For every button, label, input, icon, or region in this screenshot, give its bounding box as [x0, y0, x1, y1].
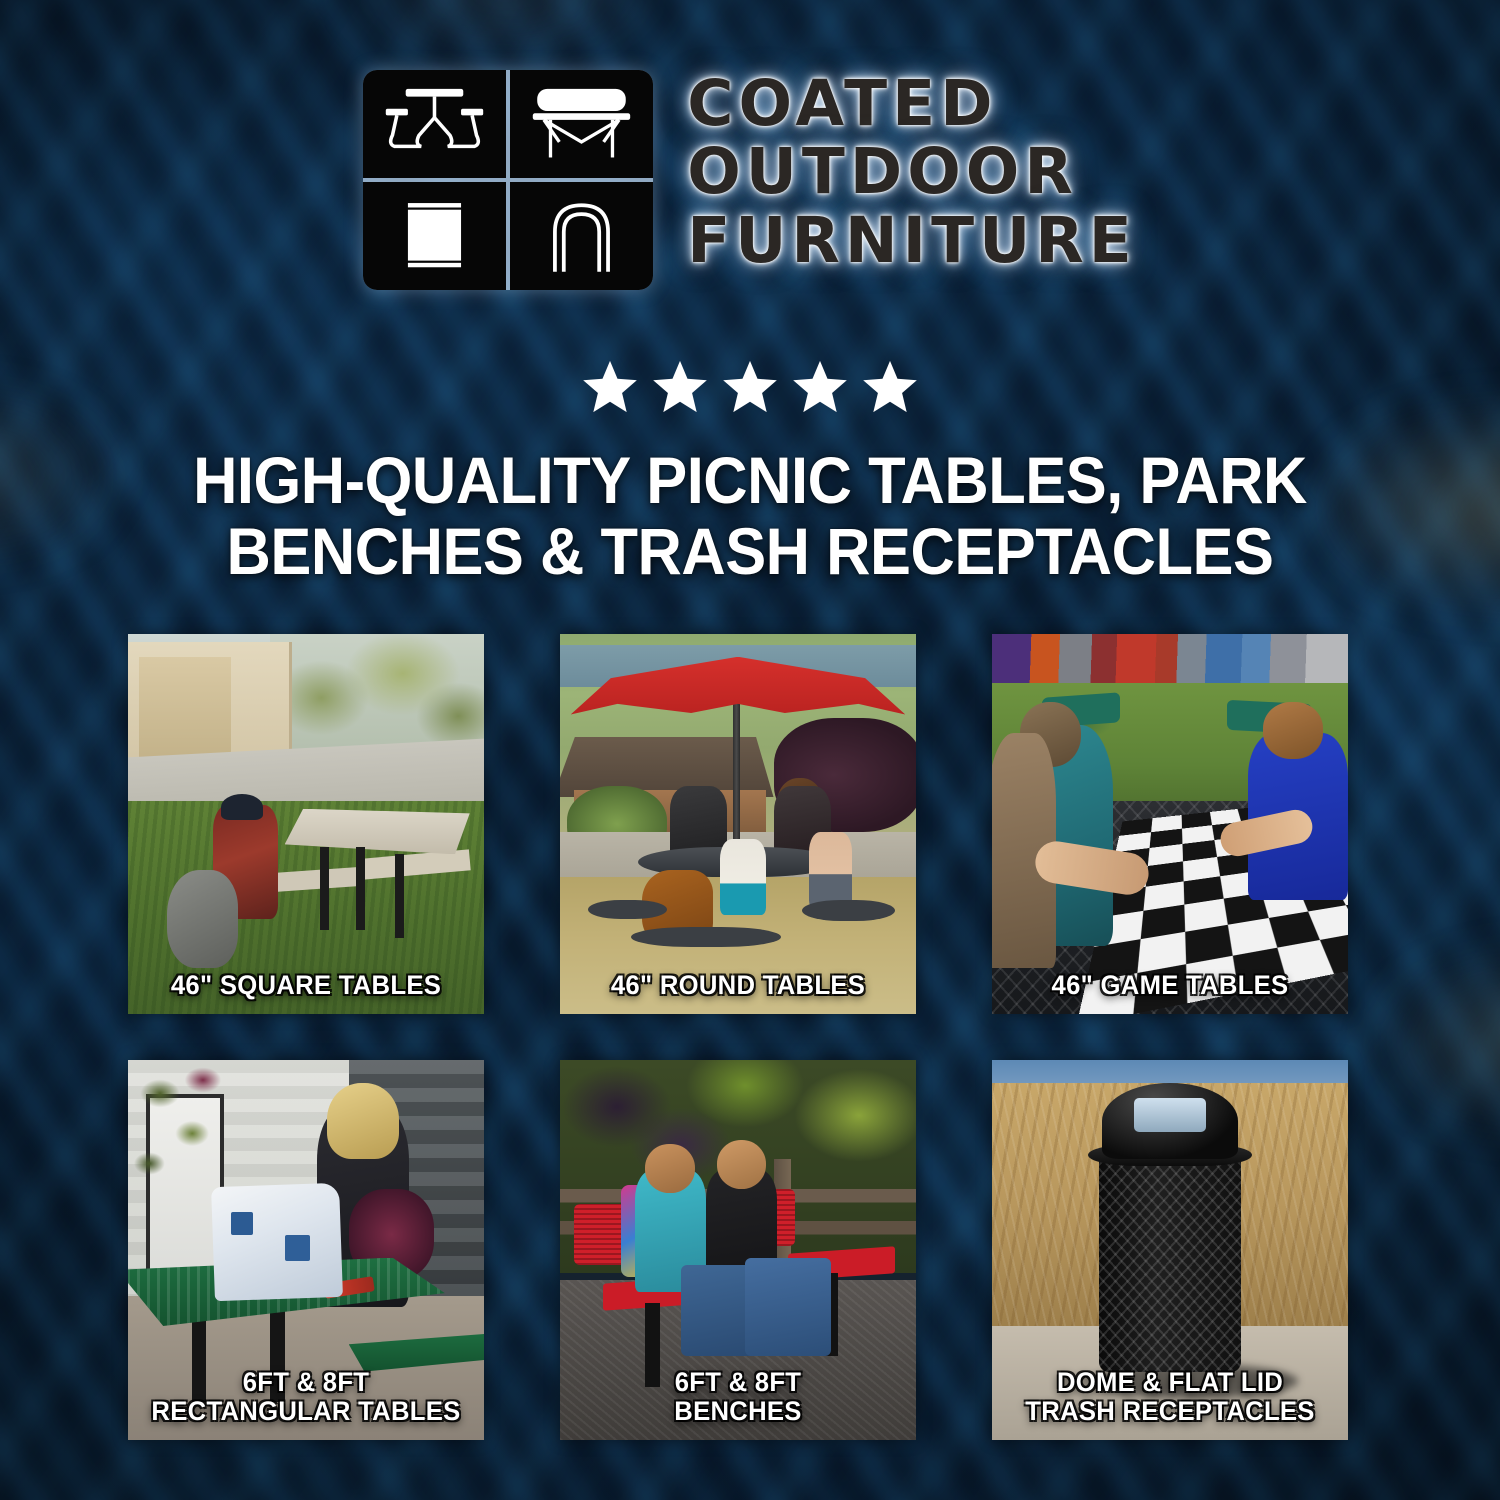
product-caption-line-2: TRASH RECEPTACLES	[1009, 1397, 1332, 1426]
star-icon	[721, 358, 779, 416]
star-icon	[581, 358, 639, 416]
product-photo-square-tables	[128, 634, 484, 1014]
brand-line-3: FURNITURE	[687, 209, 1137, 273]
star-icon	[791, 358, 849, 416]
product-photo-round-tables	[560, 634, 916, 1014]
product-tile-trash-receptacles[interactable]: DOME & FLAT LID TRASH RECEPTACLES	[992, 1060, 1348, 1440]
product-tile-square-tables[interactable]: 46" SQUARE TABLES	[128, 634, 484, 1014]
product-caption: 46" ROUND TABLES	[569, 971, 907, 1000]
product-caption-line-1: 6FT & 8FT	[577, 1368, 900, 1397]
star-rating	[0, 358, 1500, 416]
product-caption: 46" SQUARE TABLES	[137, 971, 475, 1000]
product-tile-benches[interactable]: 6FT & 8FT BENCHES	[560, 1060, 916, 1440]
park-bench-icon	[510, 70, 653, 178]
bike-rack-icon	[510, 182, 653, 290]
poster-content: COATED OUTDOOR FURNITURE HIGH-QUALITY PI…	[0, 0, 1500, 1500]
product-caption: 46" GAME TABLES	[1001, 971, 1339, 1000]
picnic-table-icon	[363, 70, 506, 178]
brand-wordmark: COATED OUTDOOR FURNITURE	[687, 70, 1137, 273]
product-caption-line-2: BENCHES	[577, 1397, 900, 1426]
brand-line-1: COATED	[687, 72, 1137, 136]
product-grid: 46" SQUARE TABLES 46" ROUND TABLE	[128, 634, 1372, 1440]
product-caption-line-1: 46" ROUND TABLES	[577, 971, 900, 1000]
headline-line-1: HIGH-QUALITY PICNIC TABLES, PARK	[53, 445, 1448, 516]
product-caption: 6FT & 8FT RECTANGULAR TABLES	[137, 1368, 475, 1426]
brand-line-2: OUTDOOR	[687, 140, 1137, 204]
page-title: HIGH-QUALITY PICNIC TABLES, PARK BENCHES…	[53, 445, 1448, 588]
star-icon	[861, 358, 919, 416]
headline-line-2: BENCHES & TRASH RECEPTACLES	[53, 516, 1448, 587]
product-caption-line-1: DOME & FLAT LID	[1009, 1368, 1332, 1397]
product-photo-game-tables	[992, 634, 1348, 1014]
product-caption: DOME & FLAT LID TRASH RECEPTACLES	[1001, 1368, 1339, 1426]
poster-canvas: COATED OUTDOOR FURNITURE HIGH-QUALITY PI…	[0, 0, 1500, 1500]
product-tile-game-tables[interactable]: 46" GAME TABLES	[992, 634, 1348, 1014]
product-caption-line-2: RECTANGULAR TABLES	[145, 1397, 468, 1426]
brand-header: COATED OUTDOOR FURNITURE	[0, 70, 1500, 290]
star-icon	[651, 358, 709, 416]
product-caption-line-1: 46" SQUARE TABLES	[145, 971, 468, 1000]
product-tile-rectangular-tables[interactable]: 6FT & 8FT RECTANGULAR TABLES	[128, 1060, 484, 1440]
product-caption-line-1: 6FT & 8FT	[145, 1368, 468, 1397]
product-caption: 6FT & 8FT BENCHES	[569, 1368, 907, 1426]
trash-receptacle-icon	[363, 182, 506, 290]
product-tile-round-tables[interactable]: 46" ROUND TABLES	[560, 634, 916, 1014]
product-caption-line-1: 46" GAME TABLES	[1009, 971, 1332, 1000]
brand-logo-mark	[363, 70, 653, 290]
